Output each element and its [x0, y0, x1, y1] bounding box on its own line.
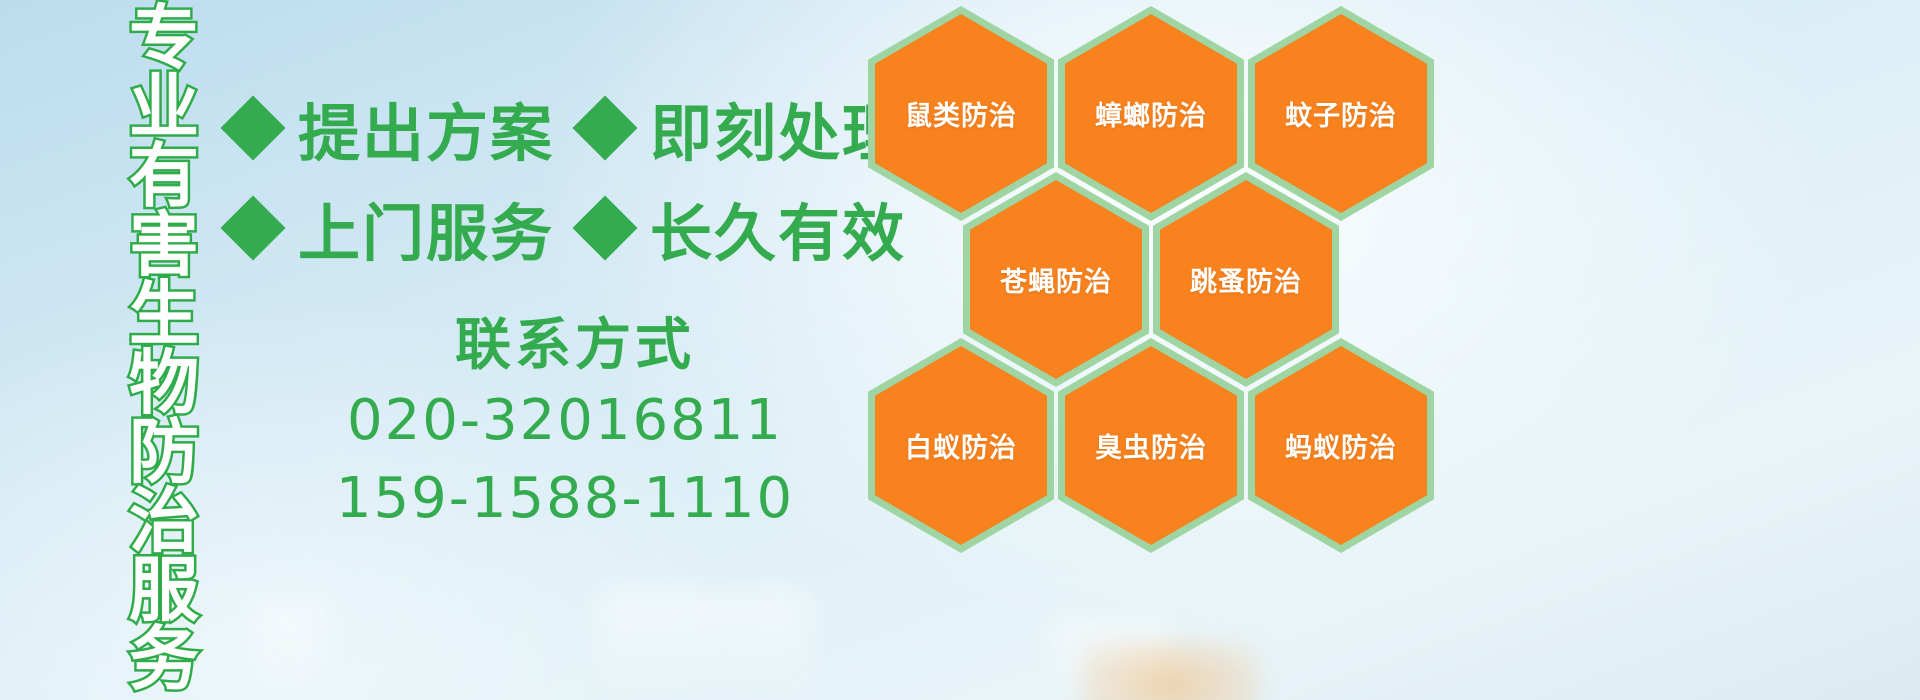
vertical-title: 专 业 有 害 生 物 防 治 服 务	[108, 4, 220, 700]
service-hex-label: 跳蚤防治	[1190, 260, 1302, 299]
service-hex-label: 鼠类防治	[905, 94, 1017, 133]
vertical-title-char: 专	[129, 4, 199, 73]
pest-control-banner: 专 业 有 害 生 物 防 治 服 务 提出方案 即刻处理 上门服务	[0, 0, 1920, 700]
service-hex-mosquito[interactable]: 蚊子防治	[1248, 6, 1434, 221]
service-hex-rodent[interactable]: 鼠类防治	[868, 6, 1054, 221]
service-hex-label: 蟑螂防治	[1095, 94, 1207, 133]
background-streak	[1050, 620, 1170, 700]
service-hex-flea[interactable]: 跳蚤防治	[1153, 172, 1339, 387]
vertical-title-char: 生	[129, 280, 199, 349]
service-hex-bedbug[interactable]: 臭虫防治	[1058, 338, 1244, 553]
diamond-icon	[220, 195, 285, 260]
vertical-title-char: 业	[129, 73, 199, 142]
slogan-item: 长久有效	[582, 183, 906, 273]
service-honeycomb: 鼠类防治 蟑螂防治 蚊子防治 苍蝇防治 跳蚤防治 白蚁防治 臭虫防治 蚂蚁	[860, 0, 1460, 570]
slogan-row: 提出方案 即刻处理	[230, 78, 870, 178]
vertical-title-char: 物	[129, 349, 199, 418]
contact-block: 联系方式 020-32016811 159-1588-1110	[300, 310, 830, 538]
service-hex-fly[interactable]: 苍蝇防治	[963, 172, 1149, 387]
vertical-title-char: 治	[129, 487, 199, 556]
service-hex-label: 苍蝇防治	[1000, 260, 1112, 299]
slogan-item: 上门服务	[230, 183, 554, 273]
vertical-title-char: 务	[129, 625, 199, 694]
background-streak	[600, 590, 810, 700]
slogan-item: 即刻处理	[582, 83, 906, 173]
vertical-title-char: 害	[129, 211, 199, 280]
service-hex-label: 白蚁防治	[905, 426, 1017, 465]
slogan-label: 提出方案	[298, 83, 554, 173]
diamond-icon	[572, 195, 637, 260]
service-hex-label: 蚂蚁防治	[1285, 426, 1397, 465]
vertical-title-char: 防	[129, 418, 199, 487]
slogan-label: 上门服务	[298, 183, 554, 273]
service-hex-label: 蚊子防治	[1285, 94, 1397, 133]
service-hex-label: 臭虫防治	[1095, 426, 1207, 465]
contact-title: 联系方式	[320, 310, 830, 382]
service-hex-termite[interactable]: 白蚁防治	[868, 338, 1054, 553]
service-hex-ant[interactable]: 蚂蚁防治	[1248, 338, 1434, 553]
slogan-row: 上门服务 长久有效	[230, 178, 870, 278]
diamond-icon	[220, 95, 285, 160]
diamond-icon	[572, 95, 637, 160]
slogan-list: 提出方案 即刻处理 上门服务 长久有效	[230, 78, 870, 278]
service-hex-cockroach[interactable]: 蟑螂防治	[1058, 6, 1244, 221]
vertical-title-char: 有	[129, 142, 199, 211]
contact-phone-landline[interactable]: 020-32016811	[300, 382, 830, 460]
background-streak	[255, 600, 325, 700]
background-glow	[1080, 640, 1260, 700]
contact-phone-mobile[interactable]: 159-1588-1110	[300, 460, 830, 538]
vertical-title-char: 服	[129, 556, 199, 625]
slogan-item: 提出方案	[230, 83, 554, 173]
